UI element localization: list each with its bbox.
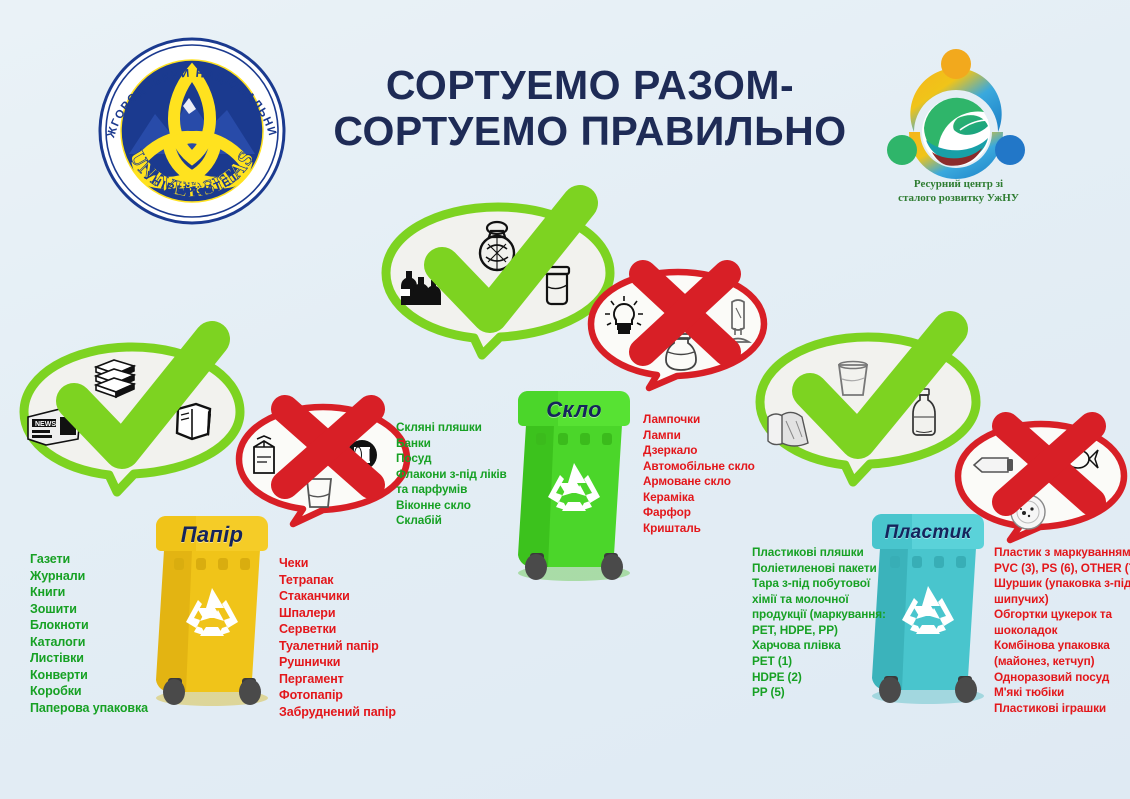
list-item: хімії та молочної bbox=[752, 592, 886, 608]
list-item: Стаканчики bbox=[279, 588, 396, 605]
list-item: Фарфор bbox=[643, 505, 755, 521]
resource-center-caption: Ресурний центр зі сталого розвитку УжНУ bbox=[866, 178, 1051, 206]
uzhnu-logo: UNIVERSITAS УЖГОРОДСЬКИЙ НАЦІОНАЛЬНИЙ УН… bbox=[97, 36, 287, 226]
list-item: Рушнички bbox=[279, 654, 396, 671]
glass-reject-bubble bbox=[585, 268, 770, 393]
list-item: Тетрапак bbox=[279, 572, 396, 589]
list-item: продукції (маркування: bbox=[752, 607, 886, 623]
list-item: Пергамент bbox=[279, 671, 396, 688]
list-item: шоколадок bbox=[994, 623, 1130, 639]
list-item: PVC (3), PS (6), OTHER (7) bbox=[994, 561, 1130, 577]
check-mark-glass bbox=[412, 193, 612, 353]
list-item: Каталоги bbox=[30, 634, 148, 651]
cross-mark-glass bbox=[621, 254, 751, 374]
list-item: Скляні пляшки bbox=[396, 420, 507, 436]
check-mark-paper bbox=[46, 331, 246, 491]
list-item: Обгортки цукерок та bbox=[994, 607, 1130, 623]
list-item: Пластикові іграшки bbox=[994, 701, 1130, 717]
list-item: Пластикові пляшки bbox=[752, 545, 886, 561]
cross-mark-plastic bbox=[982, 404, 1117, 526]
list-item: (майонез, кетчуп) bbox=[994, 654, 1130, 670]
list-item: Фотопапір bbox=[279, 687, 396, 704]
glass-reject-list: ЛампочкиЛампиДзеркалоАвтомобільне склоАр… bbox=[643, 412, 755, 537]
list-item: Одноразовий посуд bbox=[994, 670, 1130, 686]
list-item: Коробки bbox=[30, 683, 148, 700]
list-item: та парфумів bbox=[396, 482, 507, 498]
list-item: Серветки bbox=[279, 621, 396, 638]
rc-caption-line-1: Ресурний центр зі bbox=[866, 178, 1051, 192]
paper-accept-bubble: NEWS bbox=[16, 343, 248, 495]
list-item: Банки bbox=[396, 436, 507, 452]
list-item: Дзеркало bbox=[643, 443, 755, 459]
list-item: Шуршик (упаковка з-під bbox=[994, 576, 1130, 592]
plastic-accept-list: Пластикові пляшкиПоліетиленові пакетиТар… bbox=[752, 545, 886, 701]
list-item: Віконне скло bbox=[396, 498, 507, 514]
rc-caption-line-2: сталого розвитку УжНУ bbox=[866, 192, 1051, 206]
list-item: Пластик з маркуванням: bbox=[994, 545, 1130, 561]
paper-bin: Папір bbox=[146, 502, 278, 710]
list-item: Конверти bbox=[30, 667, 148, 684]
list-item: Чеки bbox=[279, 555, 396, 572]
list-item: Лампи bbox=[643, 428, 755, 444]
list-item: Забруднений папір bbox=[279, 704, 396, 721]
list-item: PET, HDPE, PP) bbox=[752, 623, 886, 639]
list-item: Кераміка bbox=[643, 490, 755, 506]
list-item: Тара з-під побутової bbox=[752, 576, 886, 592]
page-title: СОРТУЕМО РАЗОМ- СОРТУЕМО ПРАВИЛЬНО bbox=[300, 62, 880, 155]
poster-canvas: UNIVERSITAS УЖГОРОДСЬКИЙ НАЦІОНАЛЬНИЙ УН… bbox=[0, 0, 1130, 799]
list-item: М'які тюбіки bbox=[994, 685, 1130, 701]
list-item: Журнали bbox=[30, 568, 148, 585]
list-item: Посуд bbox=[396, 451, 507, 467]
title-line-2: СОРТУЕМО ПРАВИЛЬНО bbox=[300, 108, 880, 154]
list-item: Армоване скло bbox=[643, 474, 755, 490]
glass-bin: Скло bbox=[508, 377, 640, 585]
list-item: Комбінова упаковка bbox=[994, 638, 1130, 654]
list-item: Склабій bbox=[396, 513, 507, 529]
paper-accept-list: ГазетиЖурналиКнигиЗошитиБлокнотиКаталоги… bbox=[30, 551, 148, 716]
list-item: Кришталь bbox=[643, 521, 755, 537]
list-item: Зошити bbox=[30, 601, 148, 618]
list-item: Харчова плівка bbox=[752, 638, 886, 654]
list-item: Блокноти bbox=[30, 617, 148, 634]
uni-logo-year: 1945 bbox=[179, 176, 206, 191]
plastic-bin-label: Пластик bbox=[862, 522, 994, 544]
list-item: PP (5) bbox=[752, 685, 886, 701]
list-item: Газети bbox=[30, 551, 148, 568]
list-item: Поліетиленові пакети bbox=[752, 561, 886, 577]
plastic-accept-bubble bbox=[752, 333, 984, 485]
list-item: Листівки bbox=[30, 650, 148, 667]
list-item: Лампочки bbox=[643, 412, 755, 428]
glass-accept-list: Скляні пляшкиБанкиПосудФлакони з-під лік… bbox=[396, 420, 507, 529]
list-item: PET (1) bbox=[752, 654, 886, 670]
list-item: Шпалери bbox=[279, 605, 396, 622]
list-item: Книги bbox=[30, 584, 148, 601]
list-item: HDPE (2) bbox=[752, 670, 886, 686]
glass-accept-bubble bbox=[378, 203, 618, 358]
paper-reject-list: ЧекиТетрапакСтаканчикиШпалериСерветкиТуа… bbox=[279, 555, 396, 720]
cross-mark-paper bbox=[261, 387, 396, 509]
list-item: шипучих) bbox=[994, 592, 1130, 608]
list-item: Паперова упаковка bbox=[30, 700, 148, 717]
list-item: Флакони з-під ліків bbox=[396, 467, 507, 483]
paper-bin-label: Папір bbox=[146, 522, 278, 548]
list-item: Автомобільне скло bbox=[643, 459, 755, 475]
plastic-reject-list: Пластик з маркуванням:PVC (3), PS (6), O… bbox=[994, 545, 1130, 716]
glass-bin-label: Скло bbox=[508, 397, 640, 423]
title-line-1: СОРТУЕМО РАЗОМ- bbox=[386, 62, 794, 108]
list-item: Туалетний папір bbox=[279, 638, 396, 655]
